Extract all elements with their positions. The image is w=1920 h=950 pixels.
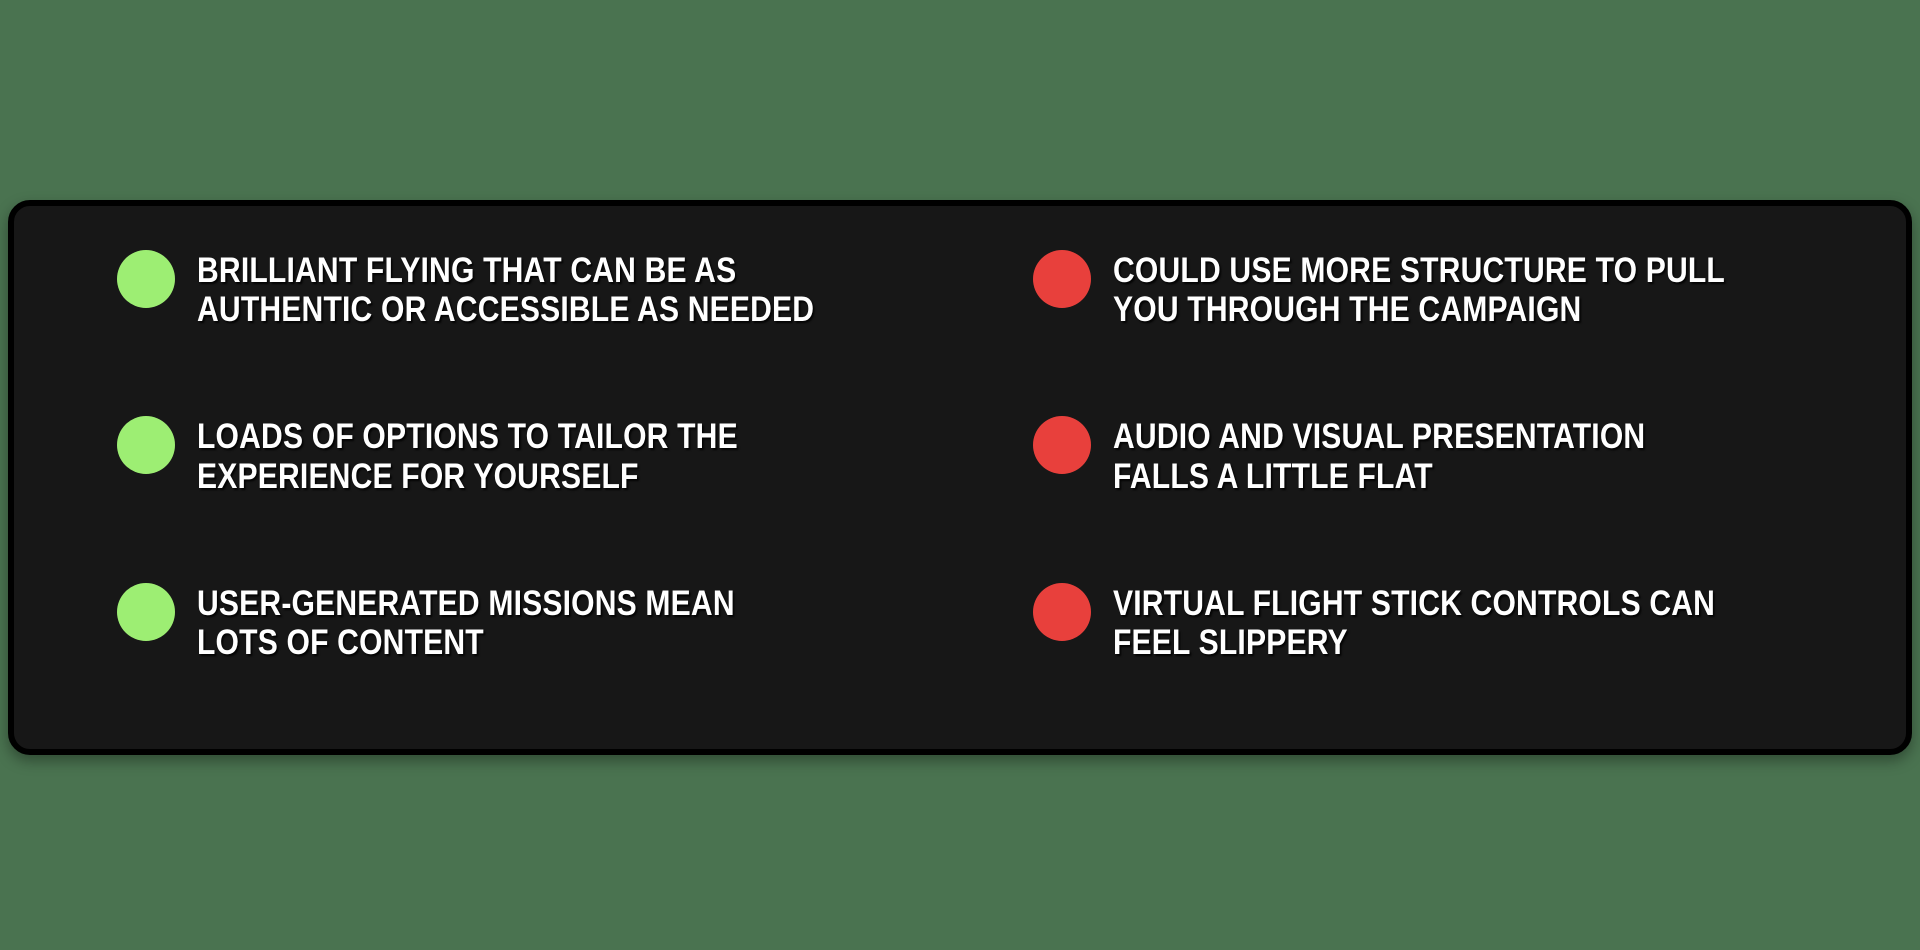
pro-item-3-label: USER-GENERATED MISSIONS MEAN LOTS OF CON… xyxy=(197,581,735,662)
con-bullet-icon xyxy=(1033,416,1091,474)
pro-item-1-label: BRILLIANT FLYING THAT CAN BE AS AUTHENTI… xyxy=(197,248,814,329)
con-item-3-label: VIRTUAL FLIGHT STICK CONTROLS CAN FEEL S… xyxy=(1113,581,1715,662)
pro-item-3: USER-GENERATED MISSIONS MEAN LOTS OF CON… xyxy=(44,557,960,723)
pro-item-2: LOADS OF OPTIONS TO TAILOR THE EXPERIENC… xyxy=(44,390,960,556)
verdict-grid: BRILLIANT FLYING THAT CAN BE AS AUTHENTI… xyxy=(14,206,1906,749)
con-item-1-label: COULD USE MORE STRUCTURE TO PULL YOU THR… xyxy=(1113,248,1725,329)
pro-bullet-icon xyxy=(117,250,175,308)
pro-item-2-label: LOADS OF OPTIONS TO TAILOR THE EXPERIENC… xyxy=(197,414,738,495)
pro-bullet-icon xyxy=(117,583,175,641)
con-item-1: COULD USE MORE STRUCTURE TO PULL YOU THR… xyxy=(960,224,1876,390)
con-item-2-label: AUDIO AND VISUAL PRESENTATION FALLS A LI… xyxy=(1113,414,1645,495)
pro-item-1: BRILLIANT FLYING THAT CAN BE AS AUTHENTI… xyxy=(44,224,960,390)
con-item-2: AUDIO AND VISUAL PRESENTATION FALLS A LI… xyxy=(960,390,1876,556)
con-bullet-icon xyxy=(1033,250,1091,308)
page-root: BRILLIANT FLYING THAT CAN BE AS AUTHENTI… xyxy=(0,0,1920,950)
pro-bullet-icon xyxy=(117,416,175,474)
verdict-card: BRILLIANT FLYING THAT CAN BE AS AUTHENTI… xyxy=(8,200,1912,755)
con-bullet-icon xyxy=(1033,583,1091,641)
con-item-3: VIRTUAL FLIGHT STICK CONTROLS CAN FEEL S… xyxy=(960,557,1876,723)
